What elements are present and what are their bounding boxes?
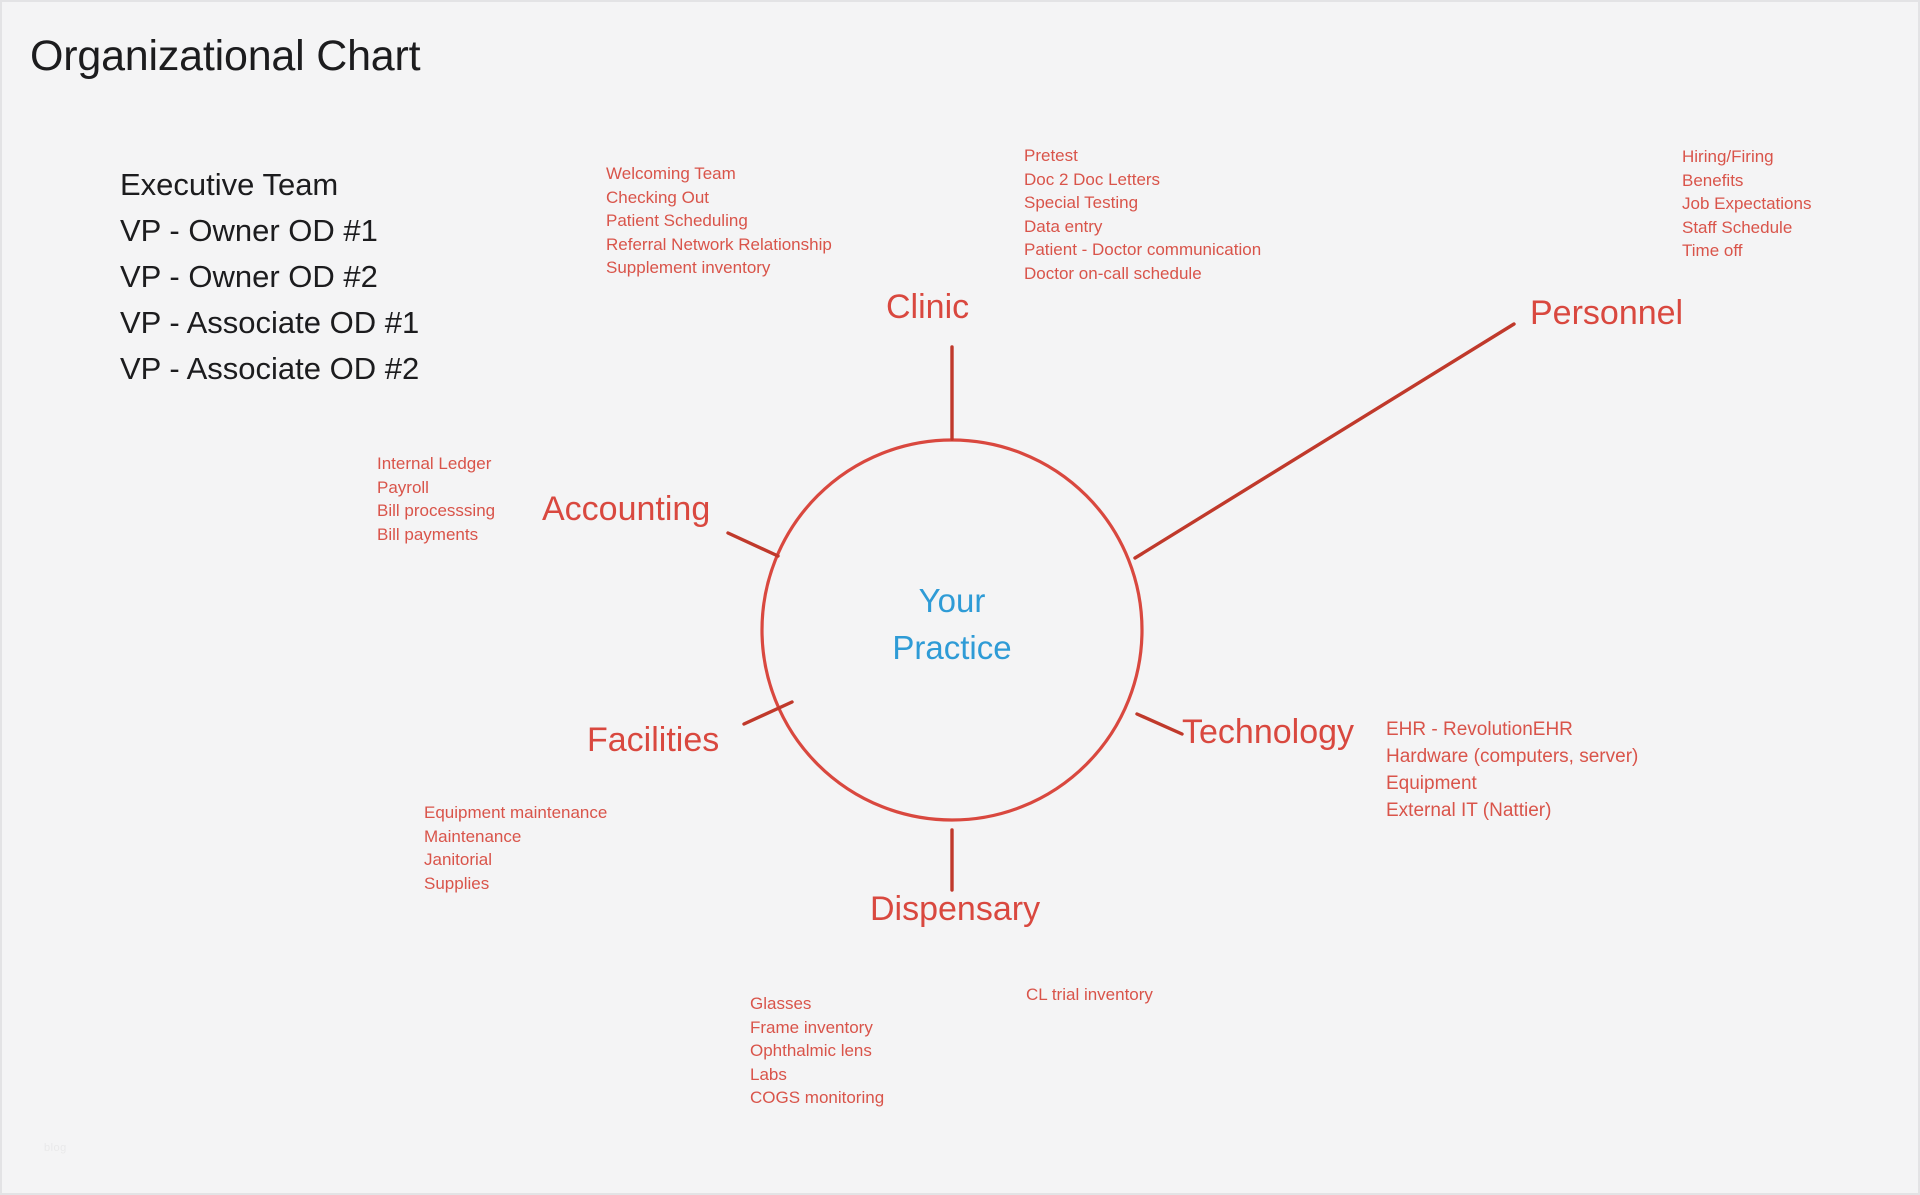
executive-team-member: VP - Owner OD #1 — [120, 208, 419, 254]
detail-list-dispensary-cl: CL trial inventory — [1026, 983, 1153, 1007]
watermark: blog — [44, 1142, 67, 1154]
detail-item: EHR - RevolutionEHR — [1386, 716, 1638, 743]
hub-label-line2: Practice — [762, 624, 1142, 671]
executive-team-heading: Executive Team — [120, 162, 419, 208]
detail-item: Doctor on-call schedule — [1024, 262, 1261, 286]
detail-list-facilities: Equipment maintenance Maintenance Janito… — [424, 801, 607, 895]
detail-item: Supplement inventory — [606, 256, 832, 280]
detail-item: Checking Out — [606, 186, 832, 210]
detail-item: Welcoming Team — [606, 162, 832, 186]
detail-item: Doc 2 Doc Letters — [1024, 168, 1261, 192]
detail-item: Data entry — [1024, 215, 1261, 239]
detail-item: Janitorial — [424, 848, 607, 872]
organizational-chart-canvas: Organizational Chart Executive Team VP -… — [0, 0, 1920, 1195]
detail-item: CL trial inventory — [1026, 983, 1153, 1007]
branch-label-clinic[interactable]: Clinic — [886, 290, 969, 324]
detail-item: Time off — [1682, 239, 1811, 263]
detail-item: Hiring/Firing — [1682, 145, 1811, 169]
detail-item: Bill processsing — [377, 499, 495, 523]
detail-item: COGS monitoring — [750, 1086, 884, 1110]
hub-label-line1: Your — [762, 577, 1142, 624]
detail-item: Internal Ledger — [377, 452, 495, 476]
detail-item: Glasses — [750, 992, 884, 1016]
detail-list-accounting: Internal Ledger Payroll Bill processsing… — [377, 452, 495, 546]
connector-personnel — [1135, 324, 1514, 558]
page-title: Organizational Chart — [30, 32, 420, 81]
branch-label-accounting[interactable]: Accounting — [542, 492, 710, 526]
connector-technology — [1137, 714, 1182, 734]
branch-label-dispensary[interactable]: Dispensary — [870, 892, 1040, 926]
detail-item: Benefits — [1682, 169, 1811, 193]
detail-item: Payroll — [377, 476, 495, 500]
detail-list-technology: EHR - RevolutionEHR Hardware (computers,… — [1386, 716, 1638, 824]
executive-team-block: Executive Team VP - Owner OD #1 VP - Own… — [120, 162, 419, 392]
detail-item: Patient - Doctor communication — [1024, 238, 1261, 262]
detail-item: Job Expectations — [1682, 192, 1811, 216]
detail-item: Referral Network Relationship — [606, 233, 832, 257]
detail-item: Ophthalmic lens — [750, 1039, 884, 1063]
detail-item: Patient Scheduling — [606, 209, 832, 233]
detail-item: Labs — [750, 1063, 884, 1087]
detail-item: Maintenance — [424, 825, 607, 849]
detail-item: Bill payments — [377, 523, 495, 547]
connector-facilities — [744, 702, 792, 724]
detail-item: External IT (Nattier) — [1386, 797, 1638, 824]
detail-list-personnel: Hiring/Firing Benefits Job Expectations … — [1682, 145, 1811, 263]
detail-item: Frame inventory — [750, 1016, 884, 1040]
executive-team-member: VP - Associate OD #1 — [120, 300, 419, 346]
branch-label-technology[interactable]: Technology — [1182, 715, 1354, 749]
detail-item: Hardware (computers, server) — [1386, 743, 1638, 770]
detail-list-dispensary-main: Glasses Frame inventory Ophthalmic lens … — [750, 992, 884, 1110]
detail-item: Equipment maintenance — [424, 801, 607, 825]
connector-accounting — [728, 533, 778, 556]
detail-item: Staff Schedule — [1682, 216, 1811, 240]
detail-item: Pretest — [1024, 144, 1261, 168]
detail-item: Supplies — [424, 872, 607, 896]
detail-item: Special Testing — [1024, 191, 1261, 215]
hub-label: Your Practice — [762, 577, 1142, 671]
branch-label-personnel[interactable]: Personnel — [1530, 296, 1683, 330]
detail-list-clinic-back: Pretest Doc 2 Doc Letters Special Testin… — [1024, 144, 1261, 285]
branch-label-facilities[interactable]: Facilities — [587, 723, 719, 757]
executive-team-member: VP - Owner OD #2 — [120, 254, 419, 300]
executive-team-member: VP - Associate OD #2 — [120, 346, 419, 392]
detail-item: Equipment — [1386, 770, 1638, 797]
detail-list-clinic-front: Welcoming Team Checking Out Patient Sche… — [606, 162, 832, 280]
